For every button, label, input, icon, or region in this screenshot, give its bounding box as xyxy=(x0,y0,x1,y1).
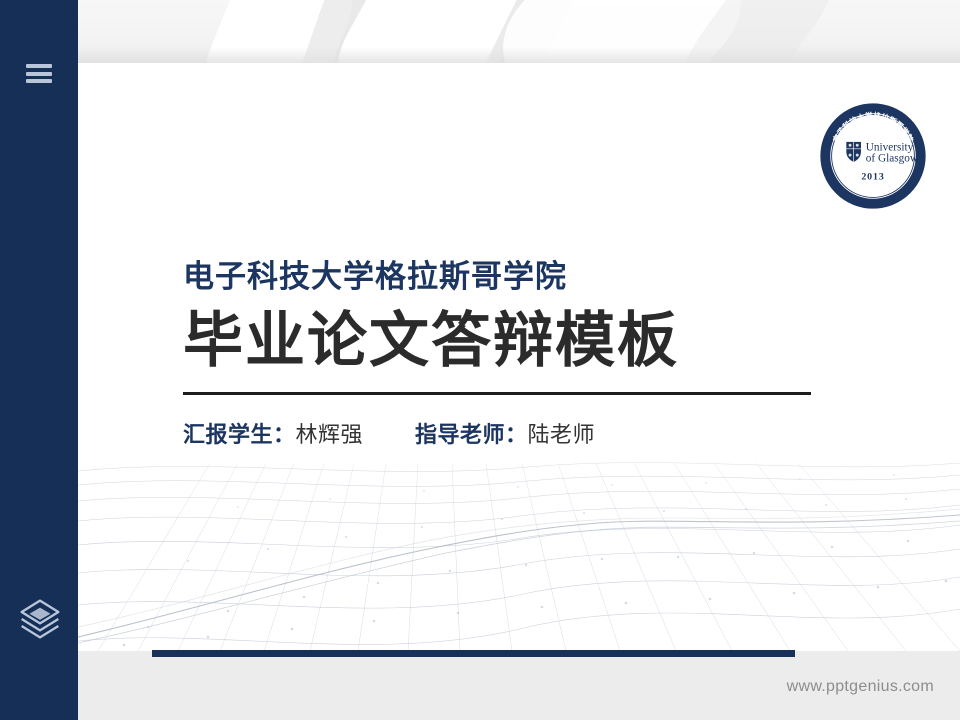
title-block: 电子科技大学格拉斯哥学院 毕业论文答辩模板 汇报学生： 林辉强 指导老师： 陆老… xyxy=(183,258,883,449)
site-watermark: www.pptgenius.com xyxy=(787,678,934,696)
slide-canvas: 电子科技大学格拉斯哥学院 Glasgow College, UESTC Univ… xyxy=(78,63,960,651)
hamburger-menu-icon[interactable] xyxy=(26,64,52,83)
accent-bar xyxy=(152,650,795,657)
student-name: 林辉强 xyxy=(296,417,364,449)
student-meta: 汇报学生： 林辉强 xyxy=(183,417,363,449)
advisor-meta: 指导老师： 陆老师 xyxy=(415,417,595,449)
hamburger-bar xyxy=(26,64,52,68)
institution-name: 电子科技大学格拉斯哥学院 xyxy=(183,258,883,297)
title-divider xyxy=(183,392,811,395)
stacked-layers-icon[interactable] xyxy=(19,597,61,641)
svg-text:of Glasgow: of Glasgow xyxy=(866,152,919,164)
advisor-label: 指导老师： xyxy=(415,417,528,449)
presenter-meta-row: 汇报学生： 林辉强 指导老师： 陆老师 xyxy=(183,417,883,449)
mesh-wave-graphic xyxy=(78,441,960,651)
left-sidebar xyxy=(0,0,78,720)
presentation-stage: www.pptgenius.com xyxy=(0,0,960,720)
footer-area: www.pptgenius.com xyxy=(78,651,960,720)
advisor-name: 陆老师 xyxy=(528,417,596,449)
svg-text:2013: 2013 xyxy=(861,171,884,182)
university-of-glasgow-seal: 电子科技大学格拉斯哥学院 Glasgow College, UESTC Univ… xyxy=(819,102,927,210)
hamburger-bar xyxy=(26,79,52,83)
band-fade xyxy=(78,47,960,63)
student-label: 汇报学生： xyxy=(183,417,296,449)
hamburger-bar xyxy=(26,72,52,76)
top-decoration-band xyxy=(78,0,960,63)
page-title: 毕业论文答辩模板 xyxy=(183,307,883,374)
